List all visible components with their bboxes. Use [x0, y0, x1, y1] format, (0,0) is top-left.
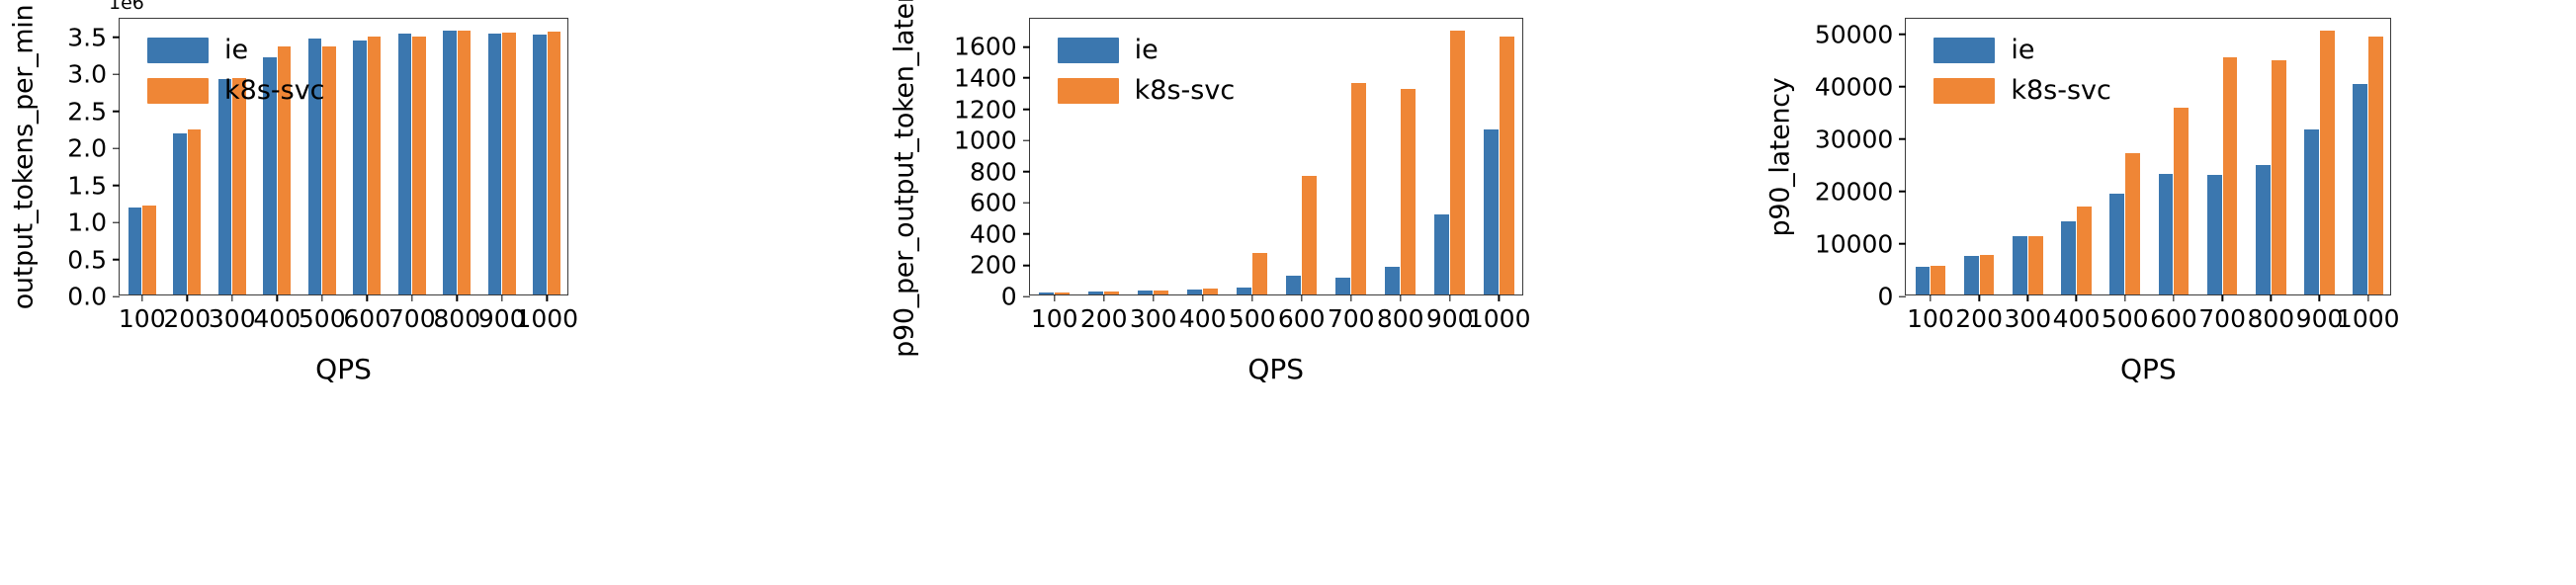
chart-legend: iek8s-svc: [147, 37, 325, 104]
x-axis-tick-label: 100: [119, 306, 166, 331]
bar-k8s-svc-1000: [1500, 37, 1514, 294]
x-axis-label: QPS: [1247, 353, 1304, 385]
bar-k8s-svc-900: [1450, 31, 1465, 294]
axes-3: p90_latency 0100002000030000400005000010…: [1717, 0, 2576, 585]
bar-k8s-svc-200: [188, 129, 202, 294]
y-axis-tick-label: 1.0: [67, 210, 120, 235]
bar-k8s-svc-100: [142, 206, 156, 294]
bar-ie-200: [1964, 256, 1979, 294]
bar-k8s-svc-300: [232, 78, 246, 294]
bar-ie-700: [398, 34, 412, 295]
legend-item-k8s-svc: k8s-svc: [147, 77, 325, 104]
bar-k8s-svc-900: [2320, 31, 2335, 294]
y-axis-tick-label: 2.5: [67, 99, 120, 124]
x-axis-tick-label: 800: [1377, 306, 1424, 331]
chart-panel-p90-latency: p90_latency 0100002000030000400005000010…: [1717, 0, 2576, 585]
bar-k8s-svc-300: [2028, 236, 2043, 294]
legend-item-ie: ie: [1933, 37, 2111, 63]
bar-ie-600: [1286, 276, 1301, 294]
bar-ie-400: [1187, 290, 1202, 294]
x-axis-tick-label: 200: [1080, 306, 1128, 331]
bar-ie-500: [2109, 194, 2124, 294]
bar-ie-900: [488, 34, 502, 294]
bar-ie-100: [1039, 292, 1054, 294]
y-axis-tick-label: 0.0: [67, 285, 120, 309]
legend-swatch-icon: [1058, 38, 1119, 63]
x-axis-label: QPS: [315, 353, 372, 385]
y-axis-tick-label: 40000: [1815, 74, 1907, 99]
legend-label: k8s-svc: [224, 77, 325, 104]
legend-swatch-icon: [147, 78, 209, 104]
y-axis-tick-label: 2.0: [67, 136, 120, 161]
bar-k8s-svc-800: [2272, 60, 2286, 294]
chart-panel-p90-per-output-token-latency: p90_per_output_token_latency 02004006008…: [859, 0, 1718, 585]
x-axis-tick-label: 800: [433, 306, 480, 331]
y-axis-tick-label: 50000: [1815, 22, 1907, 46]
legend-swatch-icon: [1933, 78, 1995, 104]
x-axis-tick-label: 500: [1229, 306, 1276, 331]
bar-k8s-svc-300: [1154, 291, 1168, 294]
y-axis-tick-label: 0.5: [67, 247, 120, 272]
bar-k8s-svc-200: [1980, 255, 1995, 294]
bar-ie-200: [173, 133, 187, 294]
y-axis-tick-label: 1.5: [67, 173, 120, 198]
bar-ie-600: [353, 41, 367, 294]
x-axis-tick-label: 700: [388, 306, 436, 331]
legend-swatch-icon: [1058, 78, 1119, 104]
x-axis-tick-label: 300: [209, 306, 256, 331]
bar-k8s-svc-500: [1252, 253, 1267, 294]
bar-ie-1000: [1484, 129, 1499, 294]
bar-k8s-svc-800: [458, 31, 472, 295]
bar-ie-200: [1088, 292, 1103, 294]
bar-k8s-svc-600: [1302, 176, 1317, 294]
plot-area: 0.00.51.01.52.02.53.03.51002003004005006…: [119, 18, 568, 295]
x-axis-tick-label: 600: [2150, 306, 2197, 331]
legend-label: ie: [224, 37, 248, 63]
x-axis-tick-label: 600: [343, 306, 390, 331]
bar-ie-500: [1237, 288, 1251, 294]
bar-k8s-svc-100: [1055, 292, 1070, 294]
bar-k8s-svc-700: [412, 37, 426, 294]
bar-k8s-svc-600: [368, 37, 382, 294]
chart-legend: iek8s-svc: [1058, 37, 1236, 104]
x-axis-tick-label: 300: [2004, 306, 2051, 331]
bar-ie-700: [2207, 175, 2222, 294]
bar-ie-700: [1335, 278, 1350, 294]
bar-ie-800: [2256, 165, 2271, 294]
chart-legend: iek8s-svc: [1933, 37, 2111, 104]
legend-label: k8s-svc: [1135, 77, 1236, 104]
x-axis-tick-label: 100: [1907, 306, 1954, 331]
bar-k8s-svc-600: [2174, 108, 2189, 294]
y-axis-tick-label: 0: [1877, 285, 1906, 309]
bar-ie-1000: [533, 35, 547, 294]
y-axis-tick-label: 200: [970, 253, 1030, 278]
legend-label: ie: [1135, 37, 1159, 63]
bar-ie-900: [1434, 214, 1449, 294]
legend-swatch-icon: [1933, 38, 1995, 63]
bar-ie-100: [1916, 267, 1931, 294]
bar-k8s-svc-500: [2125, 153, 2140, 294]
y-axis-tick-label: 0: [1001, 285, 1030, 309]
axes-2: p90_per_output_token_latency 02004006008…: [859, 0, 1718, 585]
y-axis-tick-label: 10000: [1815, 231, 1907, 256]
y-axis-tick-label: 3.0: [67, 62, 120, 87]
x-axis-tick-label: 500: [2102, 306, 2149, 331]
x-axis-tick-label: 300: [1130, 306, 1177, 331]
legend-label: k8s-svc: [2011, 77, 2111, 104]
x-axis-tick-label: 400: [1179, 306, 1227, 331]
bar-ie-600: [2159, 174, 2174, 294]
y-axis-label: p90_per_output_token_latency: [889, 0, 919, 357]
y-axis-tick-label: 1600: [954, 35, 1030, 59]
x-axis-tick-label: 200: [163, 306, 211, 331]
y-axis-label: output_tokens_per_min: [9, 4, 40, 309]
y-axis-tick-label: 1200: [954, 97, 1030, 122]
bar-k8s-svc-100: [1931, 266, 1945, 294]
x-axis-tick-label: 1000: [515, 306, 578, 331]
bar-ie-400: [2061, 221, 2076, 294]
x-axis-tick-label: 700: [1328, 306, 1375, 331]
x-axis-label: QPS: [2120, 353, 2177, 385]
x-axis-tick-label: 400: [253, 306, 301, 331]
y-axis-tick-label: 1000: [954, 128, 1030, 153]
y-axis-tick-label: 600: [970, 191, 1030, 215]
bar-k8s-svc-200: [1104, 292, 1119, 294]
x-axis-tick-label: 1000: [1468, 306, 1531, 331]
y-axis-label: p90_latency: [1765, 77, 1796, 236]
bar-k8s-svc-800: [1401, 89, 1416, 294]
legend-item-ie: ie: [147, 37, 325, 63]
bar-ie-300: [1138, 291, 1153, 294]
bar-k8s-svc-700: [1351, 83, 1366, 294]
legend-item-ie: ie: [1058, 37, 1236, 63]
y-axis-tick-label: 800: [970, 159, 1030, 184]
plot-area: 0200400600800100012001400160010020030040…: [1029, 18, 1523, 295]
legend-swatch-icon: [147, 38, 209, 63]
bar-k8s-svc-400: [2077, 207, 2092, 294]
x-axis-tick-label: 200: [1955, 306, 2003, 331]
bar-ie-800: [443, 31, 457, 294]
x-axis-tick-label: 800: [2247, 306, 2294, 331]
bar-ie-1000: [2353, 84, 2367, 294]
y-axis-offset-text: 1e6: [109, 0, 144, 14]
x-axis-tick-label: 900: [1426, 306, 1474, 331]
x-axis-tick-label: 100: [1031, 306, 1078, 331]
bar-ie-300: [2013, 236, 2027, 294]
chart-panel-output-tokens-per-min: output_tokens_per_min 1e6 0.00.51.01.52.…: [0, 0, 859, 585]
legend-label: ie: [2011, 37, 2034, 63]
bar-k8s-svc-1000: [548, 32, 561, 294]
plot-area: 0100002000030000400005000010020030040050…: [1905, 18, 2391, 295]
x-axis-tick-label: 600: [1278, 306, 1326, 331]
axes-1: output_tokens_per_min 1e6 0.00.51.01.52.…: [0, 0, 859, 585]
legend-item-k8s-svc: k8s-svc: [1058, 77, 1236, 104]
bar-ie-100: [129, 208, 142, 294]
x-axis-tick-label: 500: [299, 306, 346, 331]
bar-ie-300: [218, 79, 232, 294]
x-axis-tick-label: 700: [2198, 306, 2246, 331]
bar-k8s-svc-1000: [2368, 37, 2383, 294]
bar-ie-800: [1385, 267, 1400, 294]
bar-k8s-svc-700: [2223, 57, 2238, 294]
y-axis-tick-label: 20000: [1815, 179, 1907, 204]
y-axis-tick-label: 30000: [1815, 126, 1907, 151]
y-axis-tick-label: 3.5: [67, 25, 120, 49]
x-axis-tick-label: 400: [2053, 306, 2101, 331]
y-axis-tick-label: 400: [970, 221, 1030, 246]
legend-item-k8s-svc: k8s-svc: [1933, 77, 2111, 104]
figure-three-bar-charts: output_tokens_per_min 1e6 0.00.51.01.52.…: [0, 0, 2576, 585]
y-axis-tick-label: 1400: [954, 65, 1030, 90]
x-axis-tick-label: 1000: [2337, 306, 2400, 331]
bar-ie-900: [2304, 129, 2319, 294]
bar-k8s-svc-400: [1203, 289, 1218, 294]
bar-k8s-svc-900: [502, 33, 516, 294]
